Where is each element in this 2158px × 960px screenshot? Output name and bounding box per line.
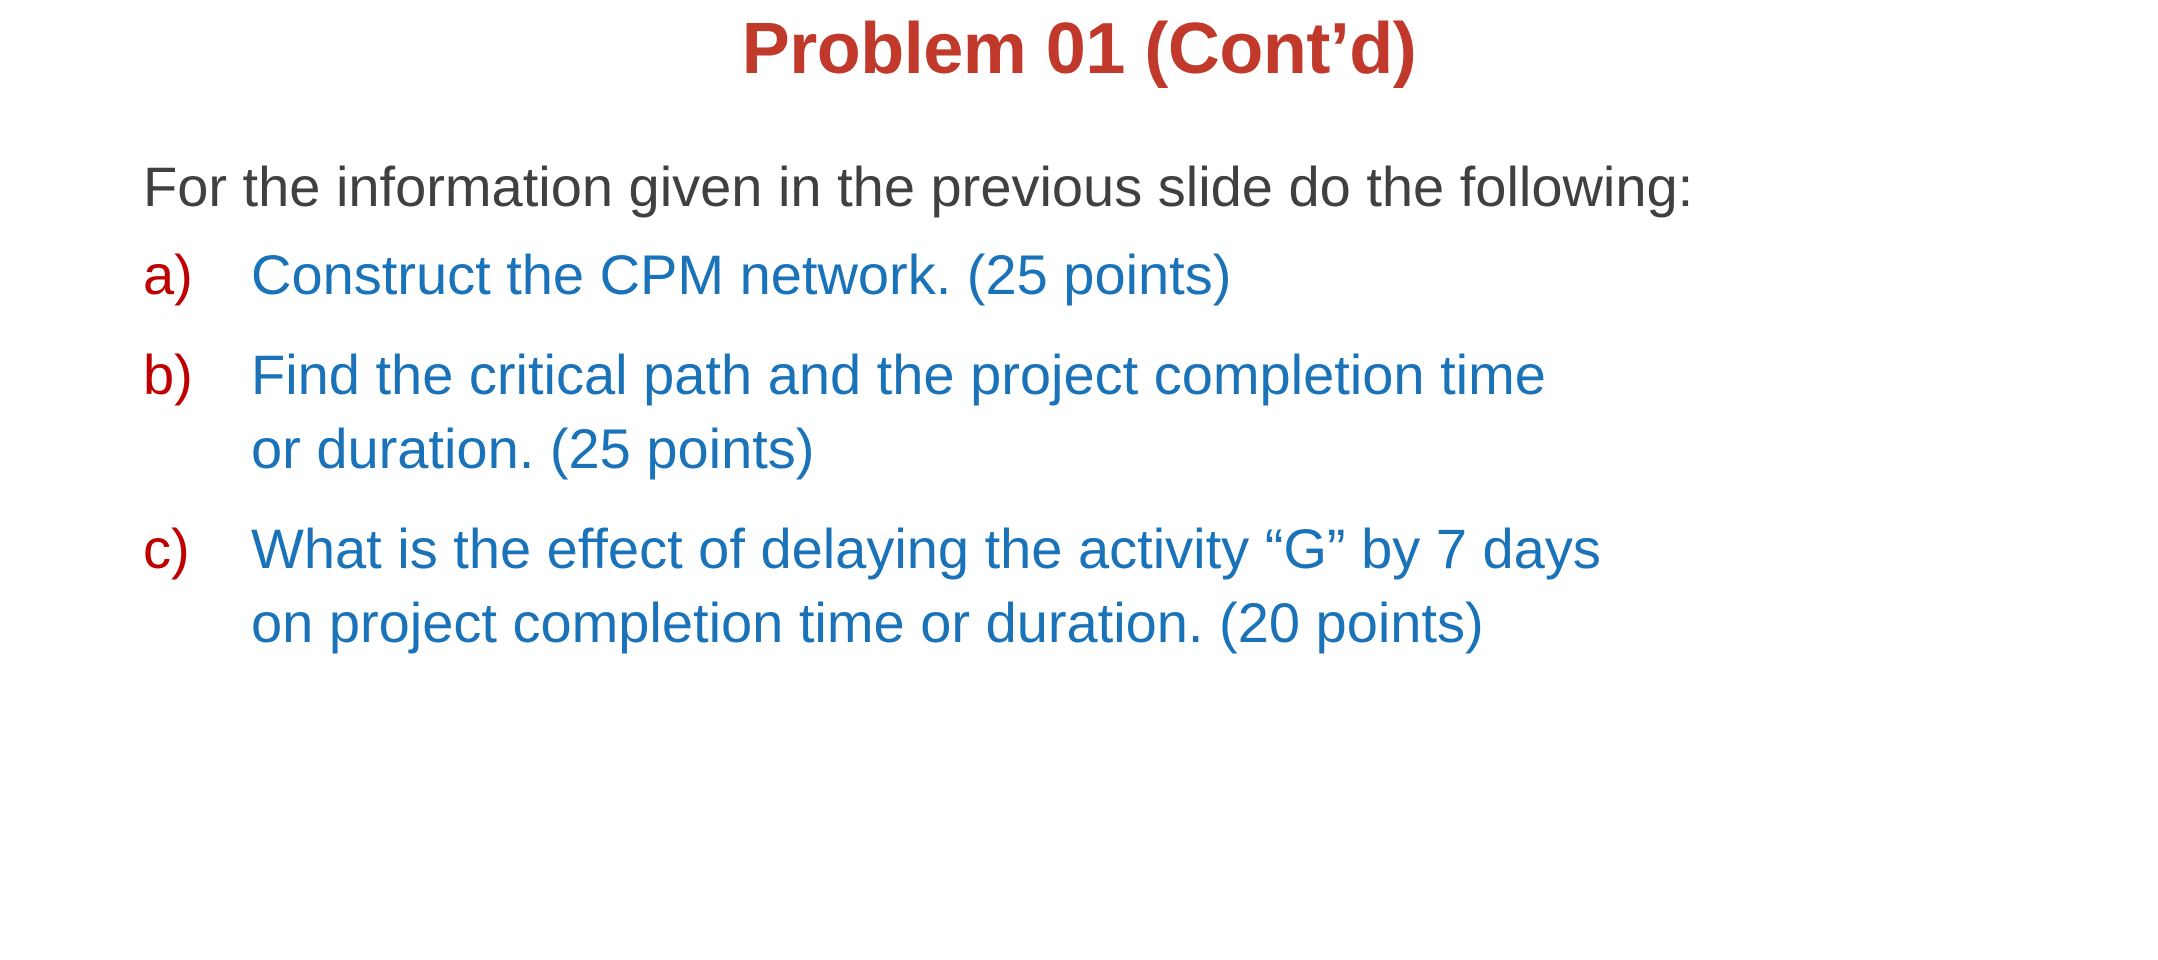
- list-item-marker-a: a): [143, 238, 251, 312]
- list-item: a) Construct the CPM network. (25 points…: [143, 238, 2043, 312]
- intro-text: For the information given in the previou…: [143, 150, 2043, 224]
- slide-body: For the information given in the previou…: [143, 150, 2043, 659]
- list-item-text-b: Find the critical path and the project c…: [251, 338, 1611, 486]
- list-item-marker-c: c): [143, 512, 251, 586]
- list-item-text-a: Construct the CPM network. (25 points): [251, 238, 2043, 312]
- slide: Problem 01 (Cont’d) For the information …: [0, 0, 2158, 960]
- list-item: c) What is the effect of delaying the ac…: [143, 512, 2043, 660]
- list-item-marker-b: b): [143, 338, 251, 412]
- page-title: Problem 01 (Cont’d): [0, 6, 2158, 92]
- list-item-text-c: What is the effect of delaying the activ…: [251, 512, 1611, 660]
- task-list: a) Construct the CPM network. (25 points…: [143, 238, 2043, 660]
- list-item: b) Find the critical path and the projec…: [143, 338, 2043, 486]
